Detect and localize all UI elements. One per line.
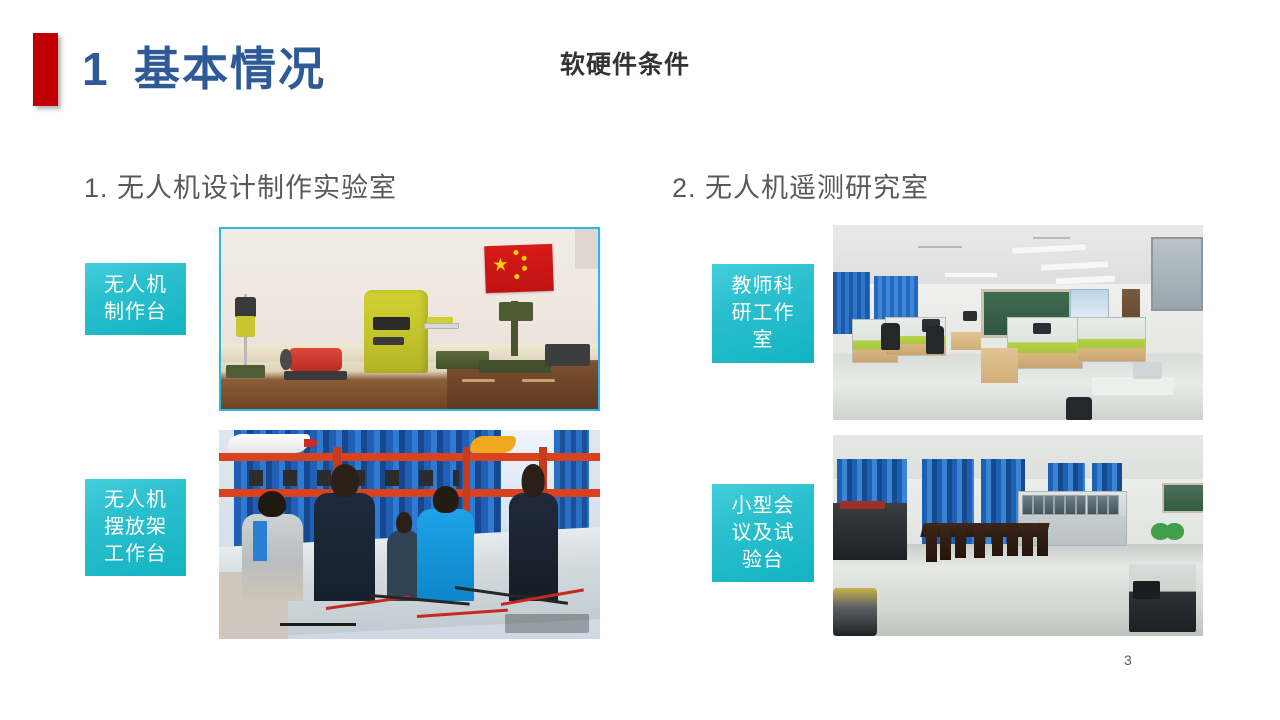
caption-chip-drone-workbench: 无人机 制作台 [85,263,186,335]
photo1-tool-box [545,344,590,366]
photo3-side-desk [951,332,981,350]
photo1-band-saw [364,290,428,373]
photo4-chair [1022,523,1033,555]
caption-chip-meeting-test-bench: 小型会 议及试 验台 [712,484,814,582]
photo2-student [242,514,303,602]
photo2-instructor [314,493,375,602]
photo4-chair [940,527,951,559]
photo2-model-aircraft-orange [470,436,516,453]
photo3-ceiling-light [944,272,998,278]
photo-students-drones [219,430,600,639]
section-heading-1: 1. 无人机设计制作实验室 [84,166,397,205]
page-title: 基本情况 [134,33,326,105]
photo-research-office [833,225,1203,420]
photo3-ceiling-fan [918,246,962,248]
photo3-monitor [1033,323,1052,335]
photo4-chair [926,529,937,561]
photo3-cubicle [1077,317,1146,362]
photo4-chair [1007,523,1018,555]
photo-machine-shop [219,227,600,411]
photo2-model-aircraft [227,434,311,453]
photo1-drill-press [232,294,258,373]
photo1-ceiling [575,229,598,269]
photo2-drone-frame [280,623,356,626]
section-heading-2: 2. 无人机遥测研究室 [672,166,929,205]
photo4-dark-equipment [833,503,907,559]
photo3-monitor [963,311,978,321]
photo1-bench-grinder [289,348,342,371]
photo4-test-bench [1129,564,1196,632]
photo3-office-chair [1066,397,1092,420]
photo4-potted-plant [1151,523,1170,539]
photo3-office-chair [926,326,945,353]
photo2-student [387,530,421,601]
photo4-foreground-equipment [833,588,877,636]
photo4-chair [992,523,1003,555]
photo3-cabinet [981,348,1018,383]
photo3-upper-window [1151,237,1203,311]
photo-meeting-room [833,435,1203,636]
photo3-office-chair [881,323,900,350]
slide-canvas: 1 基本情况 软硬件条件 1. 无人机设计制作实验室 2. 无人机遥测研究室 无… [0,0,1280,720]
page-number: 3 [1124,652,1132,668]
photo3-front-desk [1092,377,1173,395]
china-flag-icon [484,244,553,293]
photo4-red-model [840,501,884,509]
caption-chip-teacher-research-office: 教师科 研工作 室 [712,264,814,363]
photo2-student [509,493,559,602]
photo3-ceiling-fan [1033,237,1070,239]
photo4-chair [955,525,966,557]
photo2-watermark [505,614,589,633]
header-subtitle: 软硬件条件 [560,47,690,83]
photo4-chair [974,525,985,557]
photo4-storage-cabinets [1018,491,1127,545]
photo1-milling-machine [492,301,537,373]
photo3-stacked-boxes [1133,362,1163,380]
header-accent-bar [33,33,58,106]
header-section-number: 1 [82,33,108,105]
photo4-chalkboard [1162,483,1203,513]
caption-chip-drone-rack-worktable: 无人机 摆放架 工作台 [85,479,186,576]
photo4-chair [1037,523,1048,555]
